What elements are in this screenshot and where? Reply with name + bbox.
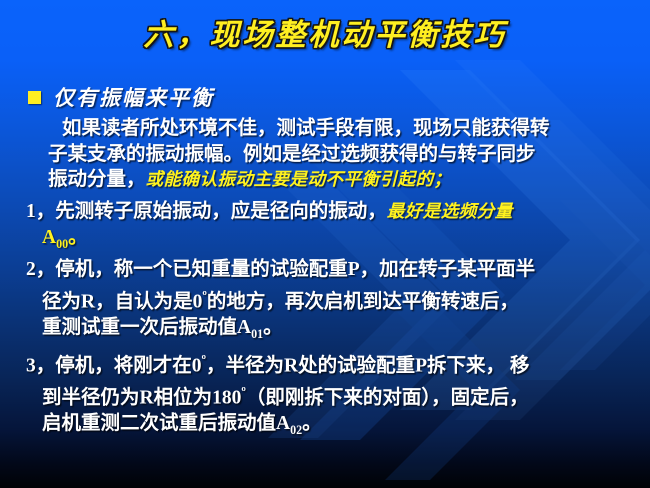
list-item-3-line-2: 到半径仍为R相位为180º（即刚拆下来的对面），固定后，	[26, 379, 630, 411]
list-item-3-line-1: 3，停机，将刚才在0º，半径为R处的试验配重P拆下来， 移	[26, 347, 630, 379]
slide-title-text: 六，现场整机动平衡技巧	[144, 10, 507, 54]
section-heading: 仅有振幅来平衡	[28, 82, 214, 112]
list-item-1-highlight: 最好是选频分量	[387, 202, 513, 222]
list-item-1-text: 先测转子原始振动，应是径向的振动，	[55, 201, 387, 222]
list-item-2-line-3: 重测试重一次后振动值A01。	[26, 315, 630, 347]
list-item-1-line-1: 1，先测转子原始振动，应是径向的振动，最好是选频分量	[26, 199, 630, 226]
list-item-2-line-3-a: 重测试重一次后振动值A	[42, 317, 251, 338]
list-item-3-line-1-a: 停机，将刚才在0	[55, 356, 201, 377]
list-item-2-number: 2，	[26, 259, 55, 280]
bullet-square-icon	[28, 91, 41, 104]
slide-title: 六，现场整机动平衡技巧	[0, 10, 650, 54]
paragraph-line-1: 如果读者所处环境不佳，测试手段有限，现场只能获得转	[26, 116, 630, 142]
list-item-1-number: 1，	[26, 201, 55, 222]
amplitude-symbol-a00-sub: 00	[56, 237, 68, 251]
amplitude-symbol-a01-sub: 01	[251, 327, 263, 341]
presentation-slide: 六，现场整机动平衡技巧 仅有振幅来平衡 如果读者所处环境不佳，测试手段有限，现场…	[0, 0, 650, 488]
list-item-3-number: 3，	[26, 356, 55, 377]
paragraph-line-3-plain: 振动分量，	[48, 169, 146, 190]
list-item-3-line-2-a: 到半径仍为R相位为180	[42, 388, 241, 409]
amplitude-symbol-a00-main: A	[42, 227, 56, 248]
list-item-2-line-2-b: 的地方，再次启机到达平衡转速后，	[207, 291, 519, 312]
list-item-3-line-3: 启机重测二次试重后振动值A02。	[26, 411, 630, 443]
section-heading-label: 仅有振幅来平衡	[53, 82, 214, 112]
amplitude-symbol-a00: A00。	[42, 227, 88, 248]
amplitude-symbol-a02-sub: 02	[290, 423, 302, 437]
paragraph-line-2: 子某支承的振动振幅。例如是经过选频获得的与转子同步	[26, 142, 630, 168]
list-item-2-text: 停机，称一个已知重量的试验配重P，加在转子某平面半	[55, 259, 535, 280]
list-item-3-line-3-a: 启机重测二次试重后振动值A	[42, 413, 290, 434]
list-item-2-line-2: 径为R，自认为是0º的地方，再次启机到达平衡转速后，	[26, 283, 630, 315]
list-item-3-line-3-b: 。	[302, 413, 322, 434]
amplitude-symbol-a00-tail: 。	[68, 227, 88, 248]
list-item-3-line-2-b: （即刚拆下来的对面），固定后，	[246, 388, 529, 409]
paragraph-line-3: 振动分量，或能确认振动主要是动不平衡引起的；	[26, 167, 630, 194]
list-item-2-line-1: 2，停机，称一个已知重量的试验配重P，加在转子某平面半	[26, 257, 630, 283]
paragraph-line-3-highlight: 或能确认振动主要是动不平衡引起的；	[146, 170, 452, 190]
list-item-2-line-3-b: 。	[263, 317, 283, 338]
list-item-3-line-1-b: ，半径为R处的试验配重P拆下来， 移	[206, 356, 529, 377]
list-item-1-line-2: A00。	[26, 225, 630, 257]
slide-body: 如果读者所处环境不佳，测试手段有限，现场只能获得转 子某支承的振动振幅。例如是经…	[26, 116, 630, 444]
list-item-2-line-2-a: 径为R，自认为是0	[42, 291, 202, 312]
